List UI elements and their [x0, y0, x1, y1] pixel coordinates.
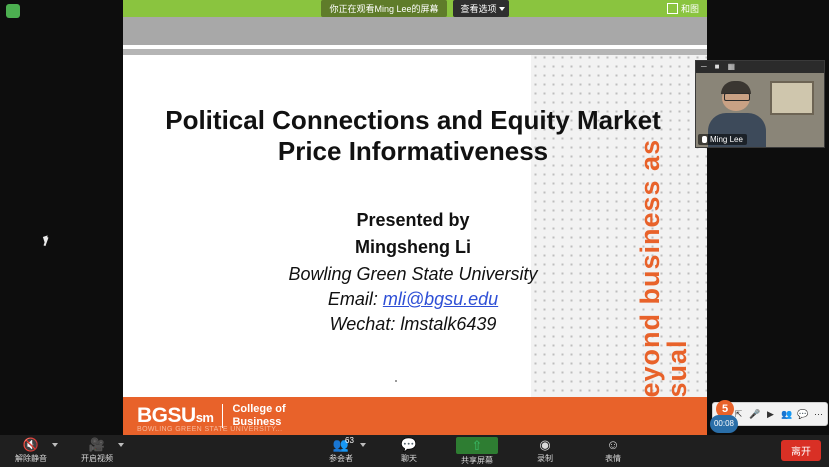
presenter-wechat: Wechat: lmstalk6439 [143, 314, 683, 335]
record-button[interactable]: ◉ 录制 [524, 437, 566, 466]
reactions-icon: ☺ [592, 437, 634, 452]
shared-screen-stage[interactable]: beyond business as usual Political Conne… [123, 17, 707, 435]
chevron-down-icon[interactable] [360, 443, 366, 447]
email-link[interactable]: mli@bgsu.edu [383, 289, 498, 309]
presenter-name: Mingsheng Li [143, 237, 683, 258]
leave-meeting-button[interactable]: 离开 [781, 440, 821, 461]
chat-button[interactable]: 💬 聊天 [388, 437, 430, 466]
start-video-button[interactable]: 🎥 开启视频 [74, 437, 120, 464]
reactions-label: 表情 [605, 454, 621, 463]
video-thumbnail-panel[interactable]: ─ ■ ▦ Ming Lee [695, 60, 825, 148]
grid-view-icon[interactable]: ▦ [728, 63, 736, 71]
meeting-timer: 00:08 [710, 415, 738, 433]
unmute-button[interactable]: 🔇 解除静音 [8, 437, 54, 464]
share-screen-icon: ⇧ [456, 437, 498, 454]
slide-stray-dot [395, 380, 397, 382]
presenter-university: Bowling Green State University [143, 264, 683, 285]
video-icon[interactable]: ▶ [765, 409, 776, 420]
college-line-1: College of [232, 403, 285, 416]
start-video-label: 开启视频 [81, 454, 113, 463]
screen-root: 你正在观看Ming Lee的屏幕 查看选项 和图 beyond business… [0, 0, 829, 467]
email-label: Email: [328, 289, 378, 309]
more-icon[interactable]: ⋯ [813, 409, 824, 420]
slide-title: Political Connections and Equity Market … [143, 105, 683, 166]
thumbnail-toolbar[interactable]: ─ ■ ▦ [696, 61, 825, 73]
notification-inner: 你正在观看Ming Lee的屏幕 查看选项 [321, 0, 508, 17]
logo-divider [222, 404, 223, 428]
bgsu-logo-text: BGSU [137, 404, 196, 428]
chat-icon[interactable]: 💬 [797, 409, 808, 420]
slide-body: beyond business as usual Political Conne… [123, 55, 707, 397]
record-icon: ◉ [524, 437, 566, 452]
slide-footer: BGSU sm College of Business BOWLING GREE… [123, 397, 707, 435]
control-bar-center-group[interactable]: 👥 63 参会者 💬 聊天 ⇧ 共享屏幕 ◉ 录制 ☺ 表情 [320, 437, 634, 466]
footer-fineprint: BOWLING GREEN STATE UNIVERSITY... [137, 426, 282, 433]
college-name: College of Business [232, 403, 285, 428]
participant-name-badge: Ming Lee [698, 134, 747, 145]
minimize-icon[interactable]: ─ [701, 63, 707, 71]
window-icon[interactable]: ■ [715, 63, 720, 71]
view-options-button[interactable]: 查看选项 [453, 0, 509, 17]
share-screen-button[interactable]: ⇧ 共享屏幕 [456, 437, 498, 466]
chat-label: 聊天 [401, 454, 417, 463]
desktop-app-icon[interactable] [6, 4, 20, 18]
screen-share-notification-bar: 你正在观看Ming Lee的屏幕 查看选项 和图 [123, 0, 707, 17]
notification-message: 你正在观看Ming Lee的屏幕 [321, 0, 446, 17]
chevron-down-icon[interactable] [52, 443, 58, 447]
microphone-icon [702, 136, 707, 143]
chevron-down-icon [499, 7, 505, 11]
video-person-glasses [724, 93, 750, 101]
slide-title-line-1: Political Connections and Equity Market [143, 105, 683, 136]
chat-icon: 💬 [388, 437, 430, 452]
participants-count: 63 [345, 436, 354, 445]
slide-subtitle-block: Presented by Mingsheng Li Bowling Green … [143, 210, 683, 335]
video-off-icon: 🎥 [74, 437, 120, 452]
control-bar-left-group[interactable]: 🔇 解除静音 🎥 开启视频 [8, 437, 120, 464]
bgsu-logo: BGSU sm [137, 404, 213, 428]
presented-by-label: Presented by [143, 210, 683, 231]
bgsu-logo-sub: sm [196, 410, 214, 425]
participants-icon: 👥 [320, 437, 362, 452]
video-wall-picture [770, 81, 814, 115]
participant-name-label: Ming Lee [710, 135, 743, 144]
meeting-control-bar[interactable]: 🔇 解除静音 🎥 开启视频 👥 63 参会者 💬 聊天 ⇧ [0, 435, 829, 467]
presenter-email-line: Email: mli@bgsu.edu [143, 289, 683, 310]
reactions-button[interactable]: ☺ 表情 [592, 437, 634, 466]
notification-right-label: 和图 [681, 2, 699, 15]
slide-title-line-2: Price Informativeness [143, 136, 683, 167]
participants-button[interactable]: 👥 63 参会者 [320, 437, 362, 466]
desktop-background-left [0, 0, 123, 435]
view-options-label: 查看选项 [461, 4, 497, 14]
participants-label: 参会者 [329, 454, 353, 463]
window-icon [667, 3, 678, 14]
microphone-icon[interactable]: 🎤 [749, 409, 760, 420]
unmute-label: 解除静音 [15, 454, 47, 463]
slide-top-band [123, 17, 707, 45]
share-screen-label: 共享屏幕 [461, 456, 493, 465]
microphone-muted-icon: 🔇 [8, 437, 54, 452]
chevron-down-icon[interactable] [118, 443, 124, 447]
notification-right-group[interactable]: 和图 [667, 2, 699, 15]
record-label: 录制 [537, 454, 553, 463]
participants-icon[interactable]: 👥 [781, 409, 792, 420]
